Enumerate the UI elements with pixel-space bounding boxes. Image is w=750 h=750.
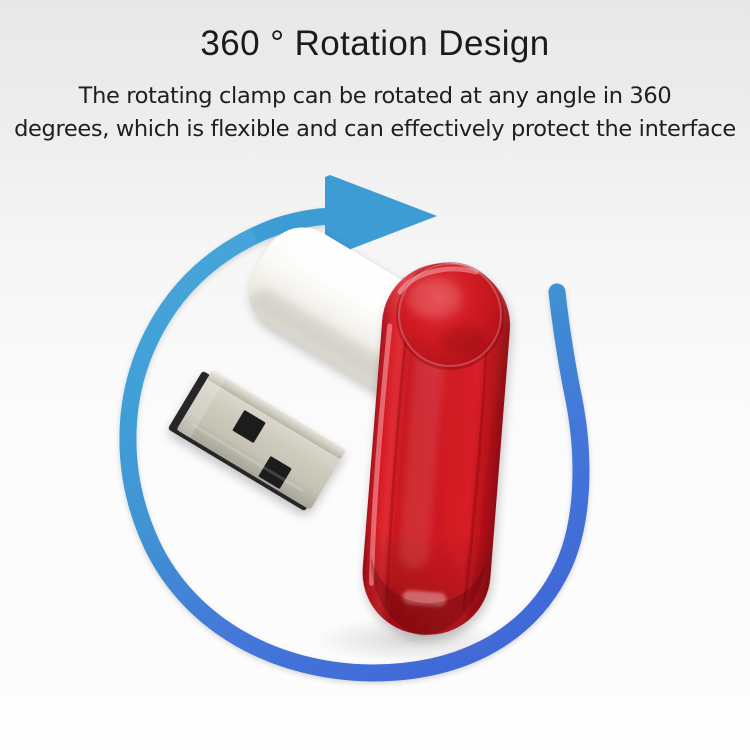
text-block: 360 ° Rotation Design The rotating clamp… <box>0 0 750 146</box>
page-subtitle: The rotating clamp can be rotated at any… <box>0 66 750 146</box>
subtitle-line-2: degrees, which is flexible and can effec… <box>0 113 750 146</box>
subtitle-line-1: The rotating clamp can be rotated at any… <box>0 80 750 113</box>
page-title: 360 ° Rotation Design <box>0 0 750 66</box>
usb-connector <box>168 366 347 514</box>
product-feature-image: 360 ° Rotation Design The rotating clamp… <box>0 0 750 750</box>
